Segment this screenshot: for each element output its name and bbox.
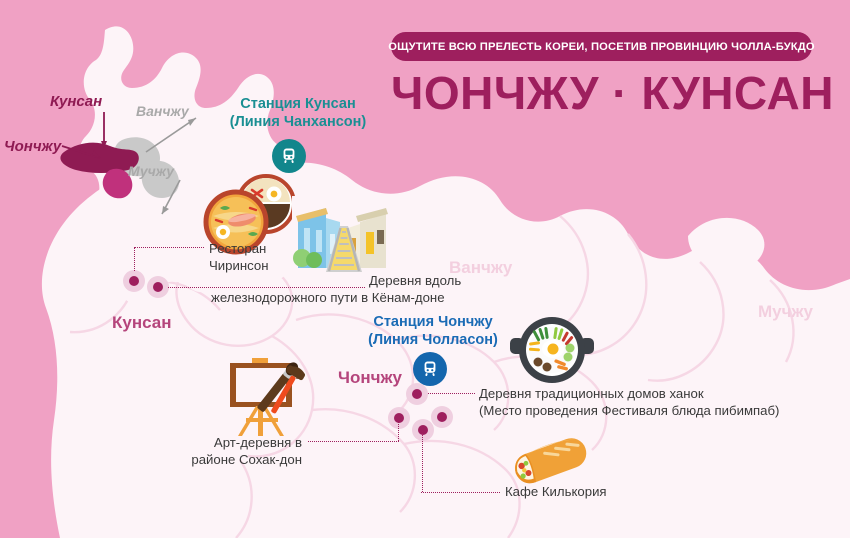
station-chonchzhu-line: (Линия Чолласон) bbox=[338, 331, 528, 349]
callout-restaurant: Ресторан Чиринсон bbox=[209, 240, 269, 274]
train-icon bbox=[279, 146, 299, 166]
infographic-map-poster: ОЩУТИТЕ ВСЮ ПРЕЛЕСТЬ КОРЕИ, ПОСЕТИВ ПРОВ… bbox=[0, 0, 850, 538]
callout-art-village-line1: Арт-деревня в bbox=[120, 434, 302, 451]
page-title: ЧОНЧЖУ · КУНСАН bbox=[391, 66, 816, 120]
callout-art-village: Арт-деревня в районе Сохак-дон bbox=[120, 434, 302, 468]
callout-hanok-village-line2: (Место проведения Фестиваля блюда пибимп… bbox=[479, 402, 779, 419]
region-label-muchzhu: Мучжу bbox=[758, 302, 813, 322]
station-chonchzhu-name: Станция Чончжу bbox=[338, 313, 528, 331]
map-marker-art-village[interactable] bbox=[388, 407, 410, 429]
bibimbap-icon bbox=[508, 312, 596, 394]
map-marker-cafe[interactable] bbox=[412, 419, 434, 441]
leader-cafe-vertical bbox=[422, 429, 423, 492]
station-kunsan-marker[interactable] bbox=[272, 139, 306, 173]
train-icon bbox=[420, 359, 440, 379]
leader-restaurant-horizontal bbox=[134, 247, 204, 248]
railway-village-icon bbox=[292, 196, 392, 278]
callout-restaurant-line2: Чиринсон bbox=[209, 257, 269, 274]
station-kunsan-name: Станция Кунсан bbox=[198, 95, 398, 113]
map-marker-railway-village[interactable] bbox=[147, 276, 169, 298]
leader-restaurant-vertical bbox=[134, 247, 135, 271]
map-marker-restaurant[interactable] bbox=[123, 270, 145, 292]
callout-railway-village-line2: железнодорожного пути в Кёнам-доне bbox=[211, 289, 461, 306]
callout-railway-village: Деревня вдоль железнодорожного пути в Кё… bbox=[369, 272, 461, 306]
inset-label-muchzhu: Мучжу bbox=[128, 163, 174, 179]
inset-label-kunsan: Кунсан bbox=[50, 93, 102, 110]
ribbon-text: ОЩУТИТЕ ВСЮ ПРЕЛЕСТЬ КОРЕИ, ПОСЕТИВ ПРОВ… bbox=[388, 41, 815, 53]
leader-hanok-village bbox=[428, 393, 475, 394]
leader-railway-village bbox=[168, 287, 365, 288]
callout-cafe-line1: Кафе Килькория bbox=[505, 483, 607, 500]
map-marker-extra-1[interactable] bbox=[431, 406, 453, 428]
callout-hanok-village: Деревня традиционных домов ханок (Место … bbox=[479, 385, 779, 419]
leader-art-village-vertical bbox=[398, 417, 399, 441]
leader-cafe-horizontal bbox=[421, 492, 500, 493]
easel-icon bbox=[218, 356, 318, 442]
station-kunsan-label: Станция Кунсан (Линия Чанхансон) bbox=[198, 95, 398, 131]
callout-hanok-village-line1: Деревня традиционных домов ханок bbox=[479, 385, 779, 402]
callout-restaurant-line1: Ресторан bbox=[209, 240, 269, 257]
region-label-kunsan: Кунсан bbox=[112, 313, 171, 333]
station-chonchzhu-marker[interactable] bbox=[413, 352, 447, 386]
callout-art-village-line2: районе Сохак-дон bbox=[120, 451, 302, 468]
region-label-chonchzhu: Чончжу bbox=[338, 368, 402, 388]
inset-label-vanchzhu: Ванчжу bbox=[136, 103, 189, 119]
inset-label-chonchzhu: Чончжу bbox=[4, 138, 61, 155]
callout-cafe: Кафе Килькория bbox=[505, 483, 607, 500]
station-kunsan-line: (Линия Чанхансон) bbox=[198, 113, 398, 131]
header-ribbon: ОЩУТИТЕ ВСЮ ПРЕЛЕСТЬ КОРЕИ, ПОСЕТИВ ПРОВ… bbox=[391, 32, 812, 61]
leader-art-village-horizontal bbox=[308, 441, 399, 442]
station-chonchzhu-label: Станция Чончжу (Линия Чолласон) bbox=[338, 313, 528, 349]
map-marker-hanok-village[interactable] bbox=[406, 383, 428, 405]
callout-railway-village-line1: Деревня вдоль bbox=[369, 272, 461, 289]
